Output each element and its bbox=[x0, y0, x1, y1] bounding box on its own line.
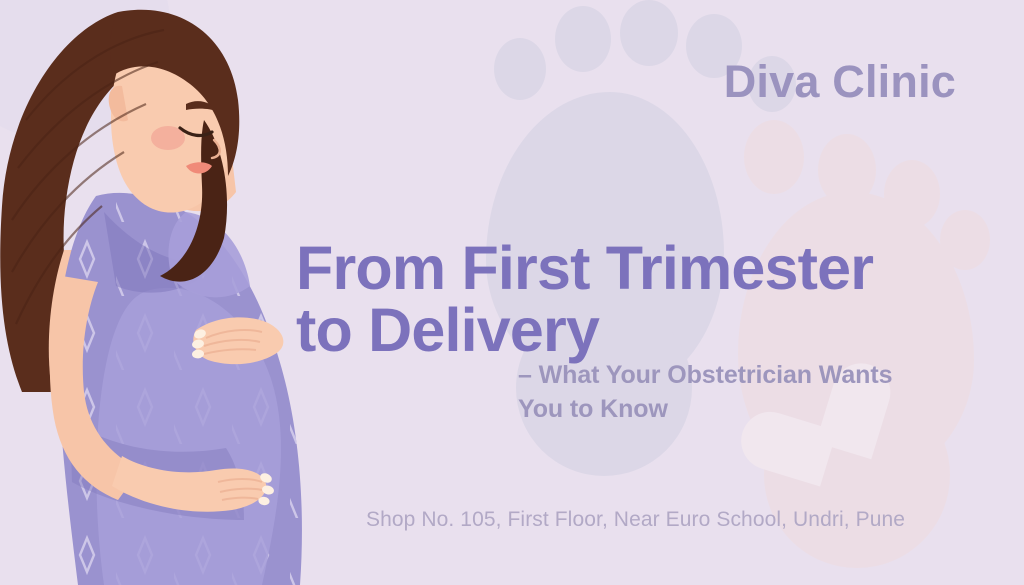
pregnant-woman-illustration bbox=[0, 0, 330, 585]
page-title: From First Trimester to Delivery bbox=[296, 237, 968, 361]
promotional-banner: Diva Clinic From First Trimester to Deli… bbox=[0, 0, 1024, 585]
footprint-toe bbox=[818, 134, 876, 206]
subtitle-line-2: You to Know bbox=[518, 395, 668, 423]
footprint-toe bbox=[744, 120, 804, 194]
brand-name: Diva Clinic bbox=[724, 56, 956, 108]
footprint-toe bbox=[620, 0, 678, 66]
footprint-toe bbox=[494, 38, 546, 100]
footprint-toe bbox=[884, 160, 940, 228]
headline-line-1: From First Trimester bbox=[296, 234, 873, 302]
footprint-toe bbox=[555, 6, 611, 72]
headline-line-2: to Delivery bbox=[296, 296, 599, 364]
clinic-address: Shop No. 105, First Floor, Near Euro Sch… bbox=[366, 508, 905, 532]
subtitle: – What Your Obstetrician Wants You to Kn… bbox=[518, 358, 970, 426]
subtitle-line-1: – What Your Obstetrician Wants bbox=[518, 361, 892, 389]
